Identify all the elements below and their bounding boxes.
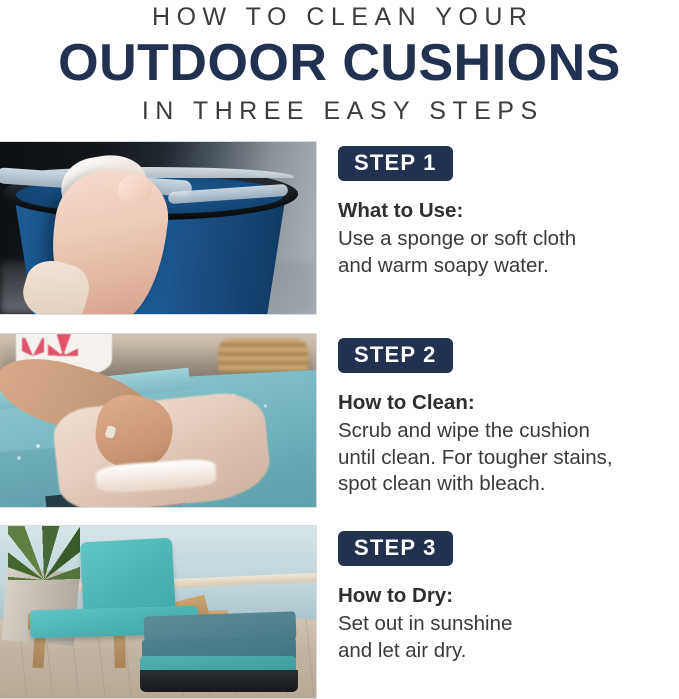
chaise-lounge-scene-illustration (0, 526, 316, 698)
step-3-content: STEP 3 How to Dry: Set out in sunshine a… (338, 525, 679, 699)
step-3-badge: STEP 3 (338, 531, 453, 566)
step-row-1: STEP 1 What to Use: Use a sponge or soft… (0, 141, 679, 315)
wicker-basket (218, 338, 308, 372)
step-1-badge: STEP 1 (338, 146, 453, 181)
header-subkicker: IN THREE EASY STEPS (0, 96, 679, 126)
bucket-scene-illustration (0, 142, 316, 314)
step-1-photo (0, 141, 317, 315)
step-1-body: Use a sponge or soft cloth and warm soap… (338, 226, 679, 279)
step-3-body: Set out in sunshine and let air dry. (338, 611, 679, 664)
page-title: OUTDOOR CUSHIONS (0, 34, 679, 92)
step-2-content: STEP 2 How to Clean: Scrub and wipe the … (338, 333, 679, 508)
step-1-lead: What to Use: (338, 198, 679, 224)
step-1-content: STEP 1 What to Use: Use a sponge or soft… (338, 141, 679, 315)
step-2-body: Scrub and wipe the cushion until clean. … (338, 418, 679, 498)
step-2-photo (0, 333, 317, 508)
step-2-badge: STEP 2 (338, 338, 453, 373)
step-3-photo (0, 525, 317, 699)
wiping-cushion-scene-illustration (0, 334, 316, 507)
stacked-cushions (140, 614, 300, 690)
step-row-3: STEP 3 How to Dry: Set out in sunshine a… (0, 525, 679, 699)
step-row-2: STEP 2 How to Clean: Scrub and wipe the … (0, 333, 679, 508)
page-header: HOW TO CLEAN YOUR OUTDOOR CUSHIONS IN TH… (0, 0, 679, 126)
agave-plant (8, 525, 80, 580)
step-3-lead: How to Dry: (338, 583, 679, 609)
step-2-lead: How to Clean: (338, 390, 679, 416)
infographic-page: HOW TO CLEAN YOUR OUTDOOR CUSHIONS IN TH… (0, 0, 679, 699)
stacked-cushion-base (140, 670, 298, 692)
palm-print-graphic-small (22, 338, 44, 356)
header-kicker: HOW TO CLEAN YOUR (0, 2, 679, 32)
palm-print-graphic (48, 334, 78, 356)
